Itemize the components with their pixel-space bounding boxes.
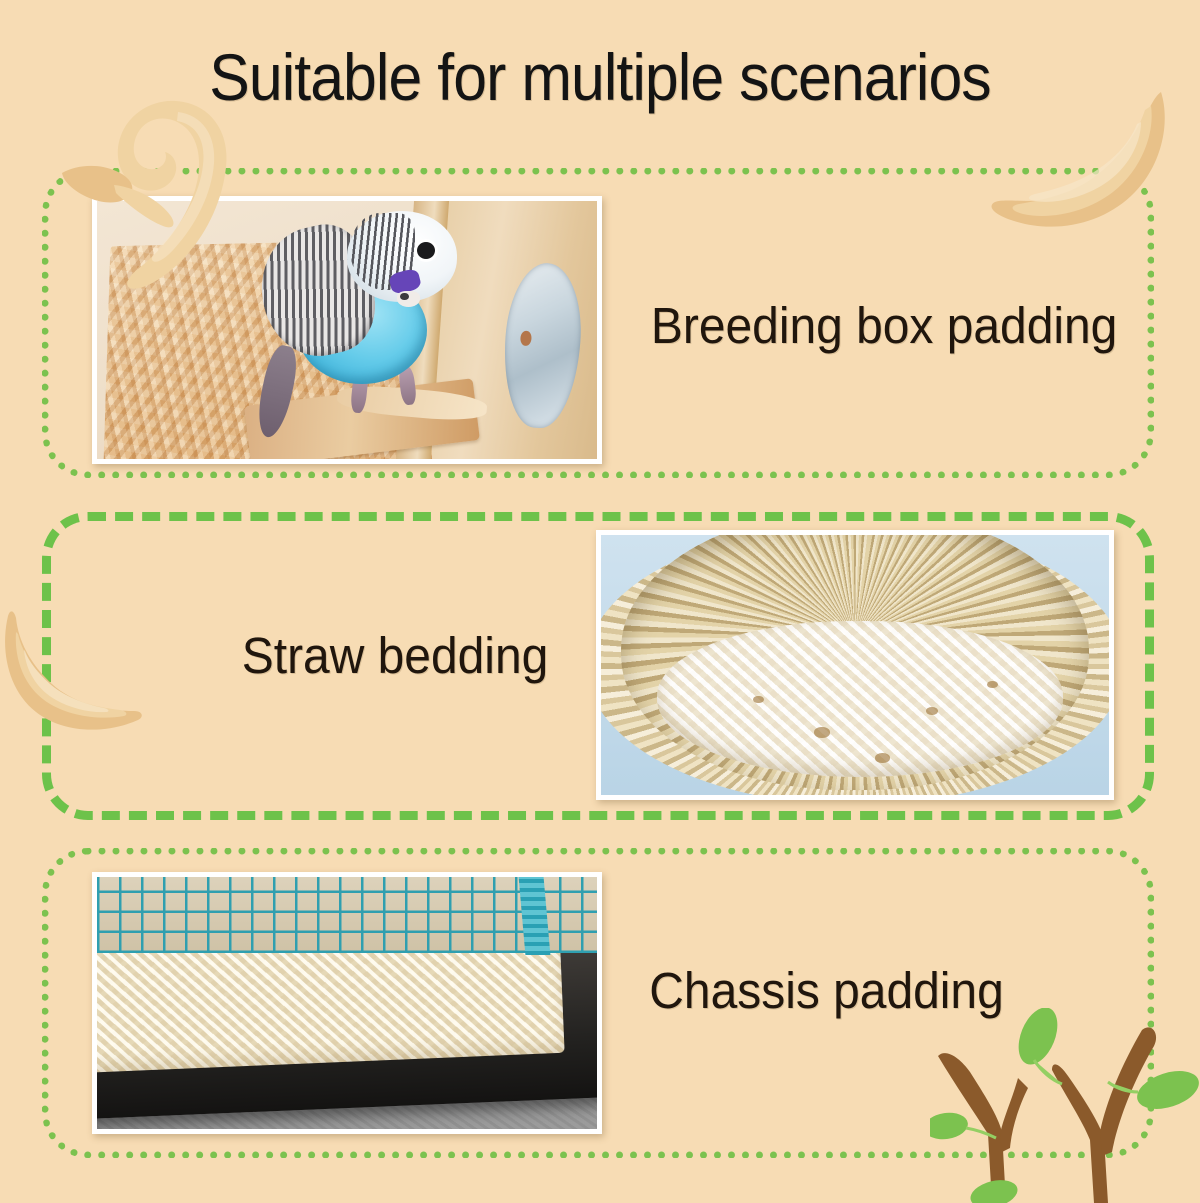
photo-breeding-box-image	[97, 201, 597, 459]
photo-chassis-padding-image	[97, 877, 597, 1129]
card-label-chassis-padding: Chassis padding	[649, 965, 1003, 1016]
photo-straw-bedding-image	[601, 535, 1109, 795]
shaving-fleck	[875, 753, 889, 762]
photo-breeding-box	[92, 196, 602, 464]
white-wood-shavings	[657, 621, 1063, 777]
infographic-canvas: Suitable for multiple scenarios Breeding…	[0, 0, 1200, 1200]
card-label-straw-bedding: Straw bedding	[242, 630, 548, 681]
shaving-fleck	[814, 727, 829, 737]
shaving-fleck	[926, 707, 938, 715]
card-label-breeding-box: Breeding box padding	[651, 300, 1117, 351]
photo-straw-bedding	[596, 530, 1114, 800]
page-title: Suitable for multiple scenarios	[48, 44, 1152, 110]
photo-chassis-padding	[92, 872, 602, 1134]
